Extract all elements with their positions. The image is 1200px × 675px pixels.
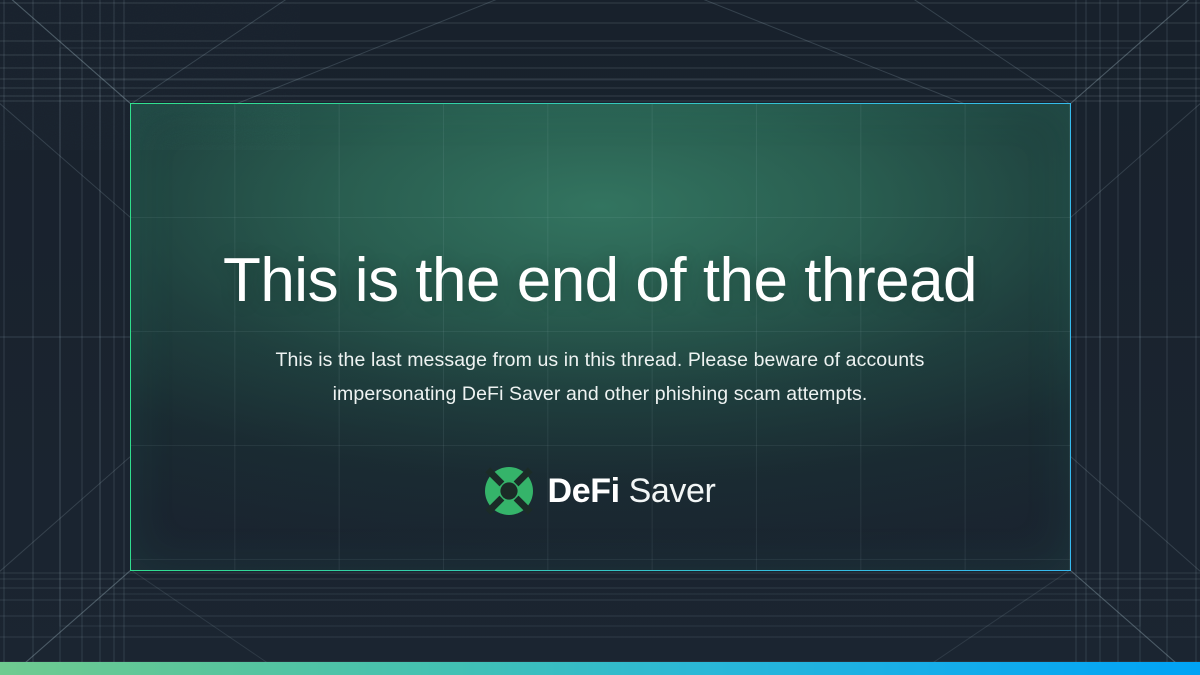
brand-name-bold: DeFi xyxy=(548,472,620,511)
defi-saver-lifebuoy-icon xyxy=(485,467,533,515)
subtitle-text: This is the last message from us in this… xyxy=(220,343,980,411)
brand-wordmark: DeFi Saver xyxy=(548,472,716,511)
announcement-card: This is the end of the thread This is th… xyxy=(0,0,1200,675)
card-content: This is the end of the thread This is th… xyxy=(0,0,1200,675)
brand-logo: DeFi Saver xyxy=(485,467,716,515)
bottom-gradient-bar xyxy=(0,662,1200,675)
page-title: This is the end of the thread xyxy=(223,248,977,315)
brand-name-light: Saver xyxy=(629,472,716,511)
